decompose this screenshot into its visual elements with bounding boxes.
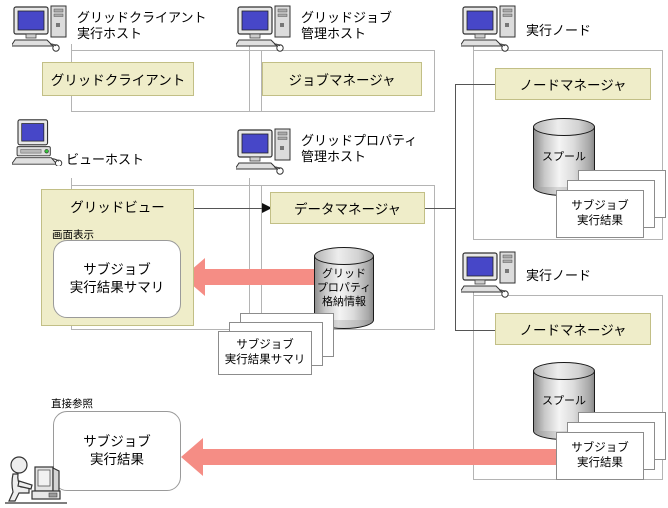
link-view-host-stem xyxy=(71,178,72,188)
cylinder-top xyxy=(533,118,595,136)
person-at-desk-icon xyxy=(5,455,67,505)
document-page-front: サブジョブ 実行結果 xyxy=(556,190,644,238)
computer-icon xyxy=(461,250,521,298)
host-label-grid-client: グリッドクライアント 実行ホスト xyxy=(77,10,227,42)
database-label-spool-top: スプール xyxy=(533,150,595,164)
link-grid-property-stem xyxy=(249,178,250,188)
document-stack-subjob-result-bottom: サブジョブ 実行結果 xyxy=(556,412,666,480)
host-label-view-host: ビューホスト xyxy=(66,152,186,168)
computer-icon xyxy=(12,118,72,166)
cylinder-top xyxy=(533,362,595,380)
host-label-grid-property: グリッドプロパティ 管理ホスト xyxy=(301,133,451,165)
thick-arrow-icon xyxy=(181,438,203,476)
component-grid-client: グリッドクライアント xyxy=(42,62,194,96)
pink-arrow-summary-to-screen xyxy=(183,258,323,296)
pink-arrow-result-to-screen xyxy=(181,438,567,476)
pink-arrow-shaft xyxy=(205,269,323,285)
screen-caption-direct-ref: 直接参照 xyxy=(51,396,93,411)
component-label-grid-view: グリッドビュー xyxy=(70,196,165,216)
component-node-manager-top: ノードマネージャ xyxy=(495,68,651,100)
computer-icon xyxy=(236,4,296,52)
host-label-grid-job: グリッドジョブ 管理ホスト xyxy=(301,10,441,42)
link-nodemgr-top-down xyxy=(455,84,456,208)
cylinder-top xyxy=(314,247,374,265)
document-stack-subjob-summary: サブジョブ 実行結果サマリ xyxy=(218,313,334,375)
host-label-exec-node-bottom: 実行ノード xyxy=(526,268,646,284)
screen-subjob-result: サブジョブ 実行結果 xyxy=(53,411,181,491)
computer-icon xyxy=(461,4,521,52)
link-nodemgr-bottom-out xyxy=(455,330,495,331)
component-data-manager: データマネージャ xyxy=(270,192,425,224)
link-into-datamanager-right xyxy=(425,208,455,209)
component-job-manager: ジョブマネージャ xyxy=(262,62,422,96)
computer-icon xyxy=(236,127,296,175)
computer-icon xyxy=(12,4,72,52)
database-label-spool-bottom: スプール xyxy=(533,394,595,408)
host-label-exec-node-top: 実行ノード xyxy=(526,23,646,39)
link-nodemgr-bottom-up xyxy=(455,208,456,330)
link-nodemgr-top-out xyxy=(455,84,495,85)
document-page-front: サブジョブ 実行結果 xyxy=(556,432,644,480)
diagram-canvas: グリッドクライアント 実行ホスト グリッドクライアント グリッドジョブ 管理ホス… xyxy=(0,0,668,508)
document-stack-subjob-result-top: サブジョブ 実行結果 xyxy=(556,170,666,238)
screen-subjob-summary: サブジョブ 実行結果サマリ xyxy=(53,240,181,318)
database-label-grid-property: グリッド プロパティ 格納情報 xyxy=(314,267,374,309)
pink-arrow-shaft xyxy=(203,449,567,465)
document-page-front: サブジョブ 実行結果サマリ xyxy=(218,331,312,375)
component-node-manager-bottom: ノードマネージャ xyxy=(495,313,651,345)
